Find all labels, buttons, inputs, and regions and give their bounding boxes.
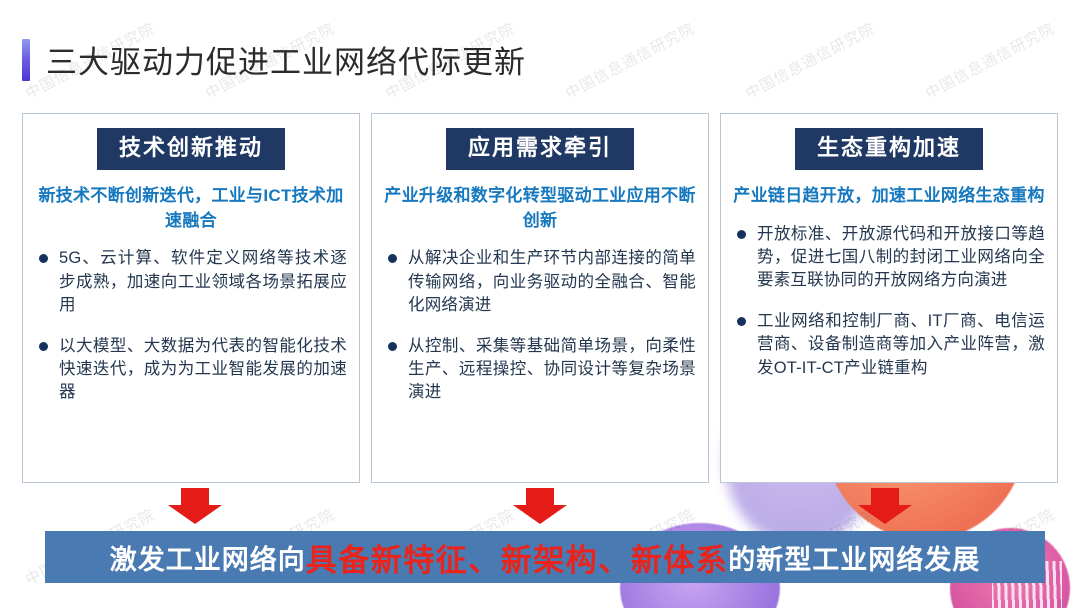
down-arrow-icon	[858, 488, 912, 524]
driver-card-technology: 技术创新推动 新技术不断创新迭代，工业与ICT技术加速融合 5G、云计算、软件定…	[22, 113, 360, 483]
driver-card-application: 应用需求牵引 产业升级和数字化转型驱动工业应用不断创新 从解决企业和生产环节内部…	[371, 113, 709, 483]
arrow-cell-3	[713, 488, 1058, 528]
driver-cards-container: 技术创新推动 新技术不断创新迭代，工业与ICT技术加速融合 5G、云计算、软件定…	[22, 113, 1058, 483]
page-title-row: 三大驱动力促进工业网络代际更新	[22, 37, 526, 82]
bullet-text: 5G、云计算、软件定义网络等技术逐步成熟，加速向工业领域各场景拓展应用	[59, 249, 347, 314]
conclusion-banner: 激发工业网络向 具备新特征、新架构、新体系 的新型工业网络发展	[45, 531, 1045, 583]
down-arrow-icon	[168, 488, 222, 524]
page-title: 三大驱动力促进工业网络代际更新	[46, 37, 526, 82]
bullet-list-ecosystem: 开放标准、开放源代码和开放接口等趋势，促进七国八制的封闭工业网络向全要素互联协同…	[733, 223, 1045, 398]
slide-canvas: 三大驱动力促进工业网络代际更新 技术创新推动 新技术不断创新迭代，工业与ICT技…	[0, 0, 1080, 608]
bullet-dot-icon	[737, 317, 746, 326]
banner-highlight-text: 具备新特征、新架构、新体系	[306, 535, 729, 580]
bullet-text: 工业网络和控制厂商、IT厂商、电信运营商、设备制造商等加入产业阵营，激发OT-I…	[757, 312, 1045, 377]
card-subtitle-ecosystem: 产业链日趋开放，加速工业网络生态重构	[733, 184, 1044, 209]
card-subtitle-application: 产业升级和数字化转型驱动工业应用不断创新	[384, 184, 696, 233]
bullet-text: 开放标准、开放源代码和开放接口等趋势，促进七国八制的封闭工业网络向全要素互联协同…	[757, 225, 1045, 290]
banner-prefix-text: 激发工业网络向	[110, 538, 306, 577]
bullet-list-application: 从解决企业和生产环节内部连接的简单传输网络，向业务驱动的全融合、智能化网络演进 …	[384, 247, 696, 422]
card-subtitle-technology: 新技术不断创新迭代，工业与ICT技术加速融合	[35, 184, 347, 233]
bullet-text: 以大模型、大数据为代表的智能化技术快速迭代，成为为工业智能发展的加速器	[59, 337, 347, 402]
list-item: 5G、云计算、软件定义网络等技术逐步成熟，加速向工业领域各场景拓展应用	[35, 247, 347, 317]
bullet-dot-icon	[388, 254, 397, 263]
card-header-ecosystem: 生态重构加速	[795, 128, 983, 170]
bullet-list-technology: 5G、云计算、软件定义网络等技术逐步成熟，加速向工业领域各场景拓展应用 以大模型…	[35, 247, 347, 422]
title-accent-bar	[22, 39, 30, 81]
bullet-text: 从控制、采集等基础简单场景，向柔性生产、远程操控、协同设计等复杂场景演进	[408, 337, 696, 402]
list-item: 工业网络和控制厂商、IT厂商、电信运营商、设备制造商等加入产业阵营，激发OT-I…	[733, 310, 1045, 380]
arrow-cell-1	[22, 488, 367, 528]
card-header-technology: 技术创新推动	[97, 128, 285, 170]
bullet-dot-icon	[737, 230, 746, 239]
list-item: 以大模型、大数据为代表的智能化技术快速迭代，成为为工业智能发展的加速器	[35, 335, 347, 405]
banner-suffix-text: 的新型工业网络发展	[728, 538, 980, 577]
arrow-row	[22, 488, 1058, 528]
bullet-dot-icon	[39, 254, 48, 263]
bullet-dot-icon	[388, 342, 397, 351]
list-item: 从控制、采集等基础简单场景，向柔性生产、远程操控、协同设计等复杂场景演进	[384, 335, 696, 405]
bullet-dot-icon	[39, 342, 48, 351]
down-arrow-icon	[513, 488, 567, 524]
driver-card-ecosystem: 生态重构加速 产业链日趋开放，加速工业网络生态重构 开放标准、开放源代码和开放接…	[720, 113, 1058, 483]
list-item: 开放标准、开放源代码和开放接口等趋势，促进七国八制的封闭工业网络向全要素互联协同…	[733, 223, 1045, 293]
bullet-text: 从解决企业和生产环节内部连接的简单传输网络，向业务驱动的全融合、智能化网络演进	[408, 249, 696, 314]
list-item: 从解决企业和生产环节内部连接的简单传输网络，向业务驱动的全融合、智能化网络演进	[384, 247, 696, 317]
card-header-application: 应用需求牵引	[446, 128, 634, 170]
arrow-cell-2	[367, 488, 712, 528]
